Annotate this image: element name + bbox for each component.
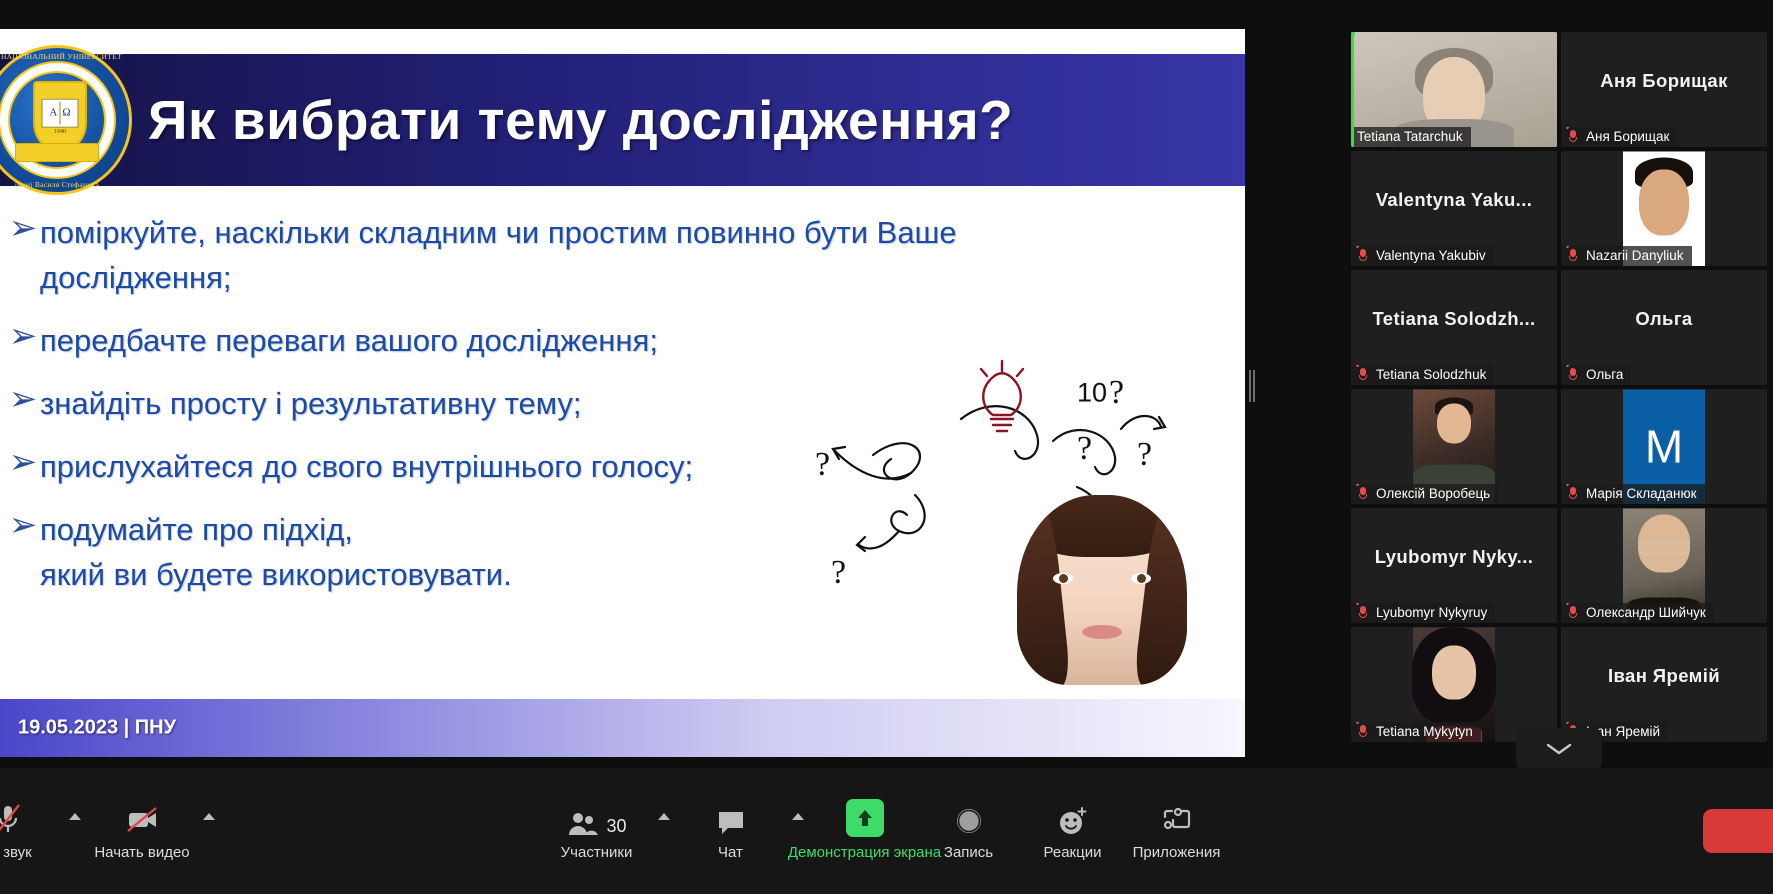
bullet-arrow-icon: ➢ bbox=[6, 319, 40, 355]
microphone-muted-icon bbox=[1357, 724, 1370, 739]
participant-tile[interactable]: Ольга Ольга bbox=[1561, 270, 1767, 385]
share-screen-icon bbox=[846, 801, 884, 837]
participant-tile-grid: Tetiana Tatarchuk Аня Борищак Аня Борища… bbox=[1351, 32, 1767, 742]
bullet-text: подумайте про підхід, який ви будете вик… bbox=[40, 508, 512, 598]
video-off-icon bbox=[124, 801, 160, 837]
participant-name: Марія Складанюк bbox=[1586, 486, 1697, 501]
participants-icon: 30 bbox=[566, 801, 626, 837]
microphone-muted-icon bbox=[1567, 605, 1580, 620]
microphone-muted-icon bbox=[1567, 486, 1580, 501]
slide-footer-bar: 19.05.2023 | ПНУ bbox=[0, 699, 1245, 757]
record-button[interactable]: Запись bbox=[917, 768, 1021, 894]
microphone-muted-icon bbox=[1567, 248, 1580, 263]
microphone-muted-icon bbox=[1567, 129, 1580, 144]
participant-name: Lyubomyr Nykyruy bbox=[1376, 605, 1487, 620]
participants-count: 30 bbox=[606, 816, 626, 837]
thinking-person-photo bbox=[1017, 495, 1187, 685]
microphone-muted-icon bbox=[1357, 605, 1370, 620]
participant-tile[interactable]: Аня Борищак Аня Борищак bbox=[1561, 32, 1767, 147]
slide-page-number: 10 bbox=[1077, 378, 1107, 409]
participant-name: Tetiana Tatarchuk bbox=[1357, 129, 1463, 144]
participant-name: Tetiana Mykytyn bbox=[1376, 724, 1473, 739]
unmute-audio-label: ть звук bbox=[0, 844, 32, 861]
participant-name-bar: Tetiana Tatarchuk bbox=[1351, 127, 1471, 147]
avatar-letter: M bbox=[1645, 420, 1683, 474]
crest-letter-omega: Ω bbox=[62, 107, 70, 119]
share-screen-button[interactable]: Демонстрация экрана bbox=[813, 768, 917, 894]
microphone-muted-icon bbox=[0, 801, 23, 837]
question-mark-glyph: ? bbox=[1137, 436, 1152, 473]
participant-name: Ольга bbox=[1586, 367, 1623, 382]
participant-tile[interactable]: Іван Яремій Іван Яремій bbox=[1561, 627, 1767, 742]
start-video-button[interactable]: Начать видео bbox=[90, 768, 194, 894]
participant-video-panel: Tetiana Tatarchuk Аня Борищак Аня Борища… bbox=[1345, 0, 1773, 768]
reactions-icon bbox=[1057, 801, 1089, 837]
participant-tile[interactable]: Lyubomyr Nyky... Lyubomyr Nykyruy bbox=[1351, 508, 1557, 623]
participant-name-bar: Nazarii Danyliuk bbox=[1561, 246, 1692, 266]
crest-book: A Ω bbox=[42, 98, 79, 128]
participant-name-bar: Олексій Воробець bbox=[1351, 484, 1498, 504]
apps-icon bbox=[1161, 801, 1193, 837]
record-label: Запись bbox=[944, 844, 993, 861]
crest-shield: A Ω 1940 bbox=[33, 81, 87, 150]
participant-tile[interactable]: Nazarii Danyliuk bbox=[1561, 151, 1767, 266]
video-options-caret[interactable] bbox=[194, 768, 224, 894]
bullet-arrow-icon: ➢ bbox=[6, 211, 40, 247]
crest-ribbon bbox=[15, 143, 99, 163]
slide-title: Як вибрати тему дослідження? bbox=[148, 54, 1178, 186]
participant-name: Tetiana Solodzhuk bbox=[1376, 367, 1486, 382]
microphone-muted-icon bbox=[1357, 248, 1370, 263]
participant-tile[interactable]: Tetiana Solodzh... Tetiana Solodzhuk bbox=[1351, 270, 1557, 385]
unmute-audio-button[interactable]: ть звук bbox=[0, 768, 60, 894]
participant-name-bar: Ольга bbox=[1561, 365, 1631, 385]
apps-label: Приложения bbox=[1133, 844, 1221, 861]
participant-tile[interactable]: M Марія Складанюк bbox=[1561, 389, 1767, 504]
participant-name: Олексій Воробець bbox=[1376, 486, 1490, 501]
chat-button[interactable]: Чат bbox=[679, 768, 783, 894]
participant-name-bar: Tetiana Mykytyn bbox=[1351, 722, 1481, 742]
participant-name-bar: Аня Борищак bbox=[1561, 127, 1677, 147]
chevron-down-icon bbox=[1546, 742, 1572, 756]
slide-footer-date: 19.05.2023 | ПНУ bbox=[18, 717, 176, 740]
participant-tile[interactable]: Олексій Воробець bbox=[1351, 389, 1557, 504]
participant-name-bar: Олександр Шийчук bbox=[1561, 603, 1714, 623]
chat-icon bbox=[716, 801, 746, 837]
participant-name: Valentyna Yakubiv bbox=[1376, 248, 1486, 263]
list-item: ➢ поміркуйте, наскільки складним чи прос… bbox=[0, 211, 1190, 301]
zoom-meeting-window: ій НАЦІОНАЛЬНИЙ УНІВЕРСИТЕТ імені Василя… bbox=[0, 0, 1773, 894]
question-mark-glyph: ? bbox=[831, 554, 846, 591]
bullet-text: передбачте переваги вашого дослідження; bbox=[40, 319, 658, 364]
toolbar-center-group: 30 Участники Чат bbox=[545, 768, 1229, 894]
question-mark-glyph: ? bbox=[815, 446, 830, 483]
crest-year: 1940 bbox=[54, 129, 66, 135]
participant-name-bar: Tetiana Solodzhuk bbox=[1351, 365, 1494, 385]
bullet-arrow-icon: ➢ bbox=[6, 445, 40, 481]
crest-arc-bottom-text: імені Василя Стефаника bbox=[0, 180, 132, 189]
bullet-text: поміркуйте, наскільки складним чи прости… bbox=[40, 211, 957, 301]
participant-name-bar: Lyubomyr Nykyruy bbox=[1351, 603, 1495, 623]
shared-screen-region[interactable]: ій НАЦІОНАЛЬНИЙ УНІВЕРСИТЕТ імені Василя… bbox=[0, 0, 1245, 768]
record-icon bbox=[953, 801, 985, 837]
reactions-button[interactable]: Реакции bbox=[1021, 768, 1125, 894]
participants-button[interactable]: 30 Участники bbox=[545, 768, 649, 894]
audio-options-caret[interactable] bbox=[60, 768, 90, 894]
question-mark-glyph: ? bbox=[1077, 430, 1092, 467]
question-mark-glyph: ? bbox=[1109, 374, 1124, 411]
meeting-toolbar: ть звук Начать видео bbox=[0, 768, 1773, 894]
participant-name: Олександр Шийчук bbox=[1586, 605, 1706, 620]
bullet-arrow-icon: ➢ bbox=[6, 508, 40, 544]
university-crest-logo: ій НАЦІОНАЛЬНИЙ УНІВЕРСИТЕТ імені Василя… bbox=[0, 45, 132, 195]
share-resize-handle[interactable] bbox=[1249, 370, 1255, 402]
thinking-illustration: ? ? ? ? ? bbox=[815, 355, 1235, 685]
participant-name-bar: Марія Складанюк bbox=[1561, 484, 1705, 504]
bullet-text: знайдіть просту і результативну тему; bbox=[40, 382, 582, 427]
participant-tile[interactable]: Олександр Шийчук bbox=[1561, 508, 1767, 623]
participants-label: Участники bbox=[561, 844, 633, 861]
apps-button[interactable]: Приложения bbox=[1125, 768, 1229, 894]
scroll-down-button[interactable] bbox=[1516, 728, 1602, 770]
bullet-arrow-icon: ➢ bbox=[6, 382, 40, 418]
participant-name-bar: Valentyna Yakubiv bbox=[1351, 246, 1494, 266]
microphone-muted-icon bbox=[1357, 486, 1370, 501]
reactions-label: Реакции bbox=[1044, 844, 1102, 861]
participant-tile[interactable]: Tetiana Tatarchuk bbox=[1351, 32, 1557, 147]
participant-tile[interactable]: Tetiana Mykytyn bbox=[1351, 627, 1557, 742]
end-meeting-button[interactable] bbox=[1703, 809, 1773, 853]
crest-letter-alpha: A bbox=[49, 107, 57, 119]
crest-arc-top-text: ій НАЦІОНАЛЬНИЙ УНІВЕРСИТЕТ bbox=[0, 52, 132, 61]
bullet-text: прислухайтеся до свого внутрішнього голо… bbox=[40, 445, 693, 490]
participants-options-caret[interactable] bbox=[649, 768, 679, 894]
toolbar-left-group: ть звук Начать видео bbox=[0, 768, 224, 894]
microphone-muted-icon bbox=[1357, 367, 1370, 382]
start-video-label: Начать видео bbox=[94, 844, 189, 861]
presentation-slide: ій НАЦІОНАЛЬНИЙ УНІВЕРСИТЕТ імені Василя… bbox=[0, 29, 1245, 757]
participant-name: Аня Борищак bbox=[1586, 129, 1669, 144]
participant-name: Nazarii Danyliuk bbox=[1586, 248, 1684, 263]
chat-options-caret[interactable] bbox=[783, 768, 813, 894]
chat-label: Чат bbox=[718, 844, 743, 861]
participant-tile[interactable]: Valentyna Yaku... Valentyna Yakubiv bbox=[1351, 151, 1557, 266]
microphone-muted-icon bbox=[1567, 367, 1580, 382]
